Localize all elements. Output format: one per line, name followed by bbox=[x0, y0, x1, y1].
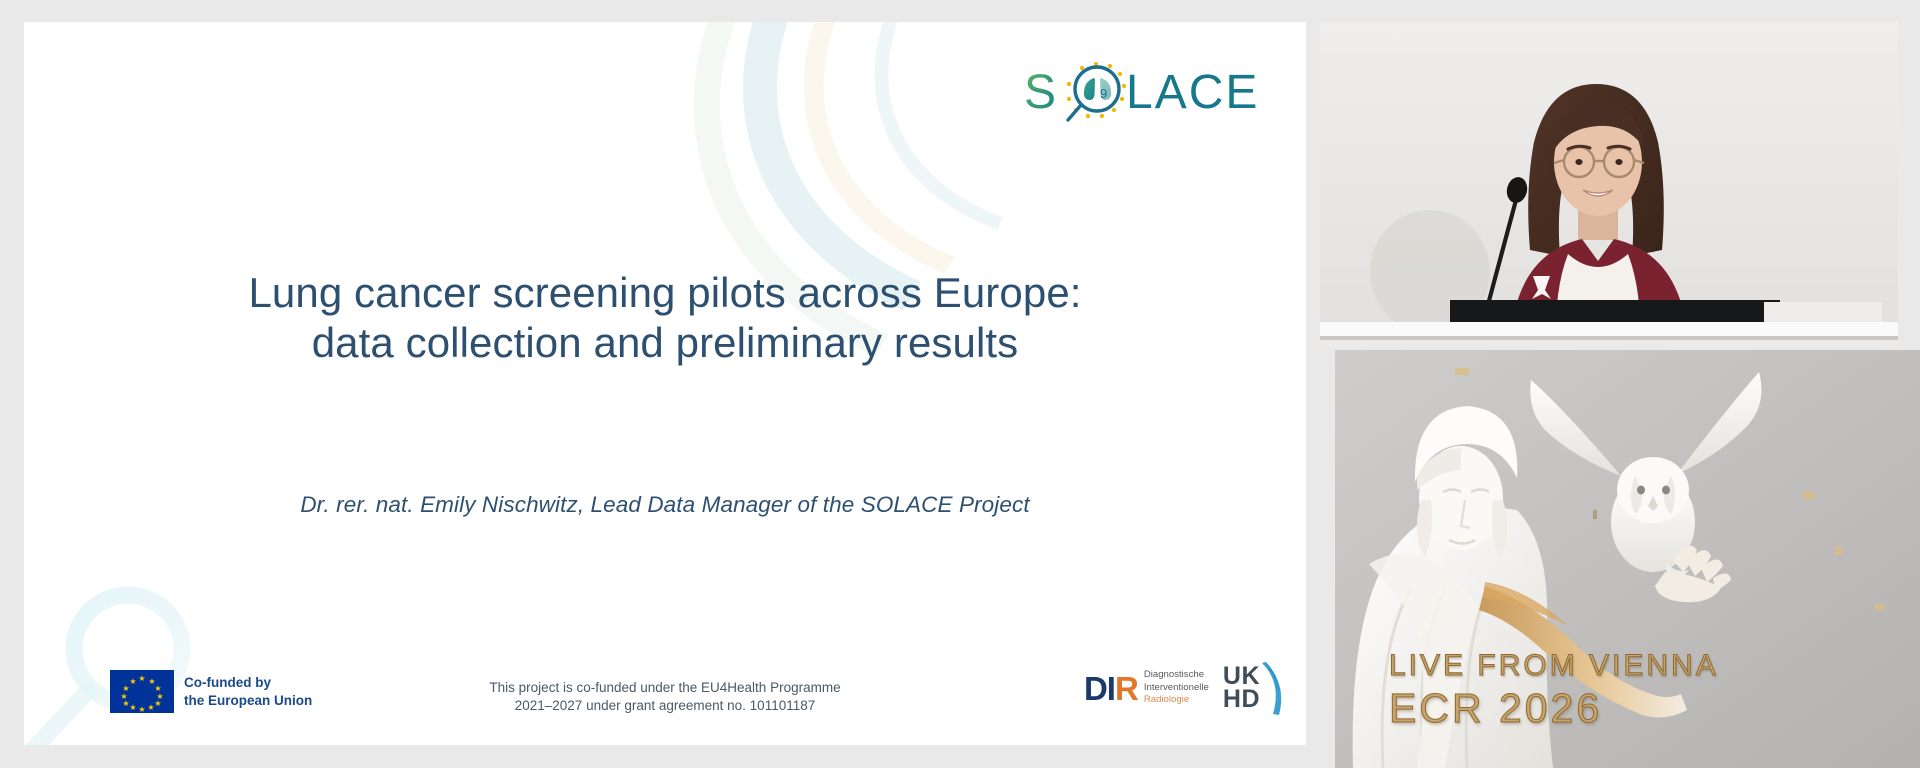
speaker-video-panel[interactable] bbox=[1320, 22, 1898, 347]
funding-note-line-2: 2021–2027 under grant agreement no. 1011… bbox=[489, 697, 840, 715]
ecr-caption-line-1: LIVE FROM VIENNA bbox=[1389, 649, 1719, 683]
dir-wordmark-accent: R bbox=[1115, 670, 1138, 707]
dir-subtitle-line-1: Diagnostische bbox=[1144, 669, 1209, 682]
svg-text:9: 9 bbox=[1100, 86, 1107, 101]
eu-funding-label: Co-funded by the European Union bbox=[184, 674, 312, 709]
dir-wordmark: DIR bbox=[1084, 672, 1138, 705]
dir-subtitle-line-2: Interventionelle bbox=[1144, 682, 1209, 695]
solace-logo: S 9 LACE bbox=[1022, 58, 1272, 134]
ukhd-swoosh-icon bbox=[1260, 659, 1290, 717]
dir-logo: DIR Diagnostische Interventionelle Radio… bbox=[1084, 669, 1209, 707]
partner-logos: DIR Diagnostische Interventionelle Radio… bbox=[1084, 659, 1290, 717]
presentation-slide: S 9 LACE Lung cancer screening pilots ac… bbox=[24, 22, 1306, 745]
ukhd-wordmark-line-2: HD bbox=[1223, 688, 1260, 711]
ukhd-logo: UK HD bbox=[1223, 659, 1290, 717]
eu-funding-label-line-1: Co-funded by bbox=[184, 674, 312, 691]
slide-footer: ★ ★ ★ ★ ★ ★ ★ ★ ★ ★ ★ ★ Co-funded by the… bbox=[24, 661, 1306, 723]
dir-subtitle: Diagnostische Interventionelle Radiologi… bbox=[1144, 669, 1209, 707]
dir-subtitle-line-3: Radiologie bbox=[1144, 694, 1209, 707]
svg-text:S: S bbox=[1024, 66, 1056, 119]
slide-author: Dr. rer. nat. Emily Nischwitz, Lead Data… bbox=[24, 492, 1306, 518]
eu-funding-badge: ★ ★ ★ ★ ★ ★ ★ ★ ★ ★ ★ ★ Co-funded by the… bbox=[110, 670, 312, 713]
slide-title-line-1: Lung cancer screening pilots across Euro… bbox=[114, 268, 1216, 318]
slide-title-line-2: data collection and preliminary results bbox=[114, 318, 1216, 368]
dir-wordmark-primary: DI bbox=[1084, 670, 1115, 707]
slide-title-block: Lung cancer screening pilots across Euro… bbox=[24, 268, 1306, 367]
funding-note-line-1: This project is co-funded under the EU4H… bbox=[489, 679, 840, 697]
funding-note: This project is co-funded under the EU4H… bbox=[489, 679, 840, 715]
ecr-caption-line-2: ECR 2026 bbox=[1389, 685, 1719, 732]
svg-text:LACE: LACE bbox=[1126, 66, 1259, 119]
ukhd-wordmark: UK HD bbox=[1223, 665, 1260, 711]
eu-flag-icon: ★ ★ ★ ★ ★ ★ ★ ★ ★ ★ ★ ★ bbox=[110, 670, 174, 713]
app-window: S 9 LACE Lung cancer screening pilots ac… bbox=[0, 0, 1920, 768]
speaker-video-frame bbox=[1320, 22, 1898, 347]
ecr-caption: LIVE FROM VIENNA ECR 2026 bbox=[1389, 649, 1719, 732]
ecr-branding-panel[interactable]: LIVE FROM VIENNA ECR 2026 bbox=[1335, 350, 1920, 768]
eu-funding-label-line-2: the European Union bbox=[184, 692, 312, 709]
